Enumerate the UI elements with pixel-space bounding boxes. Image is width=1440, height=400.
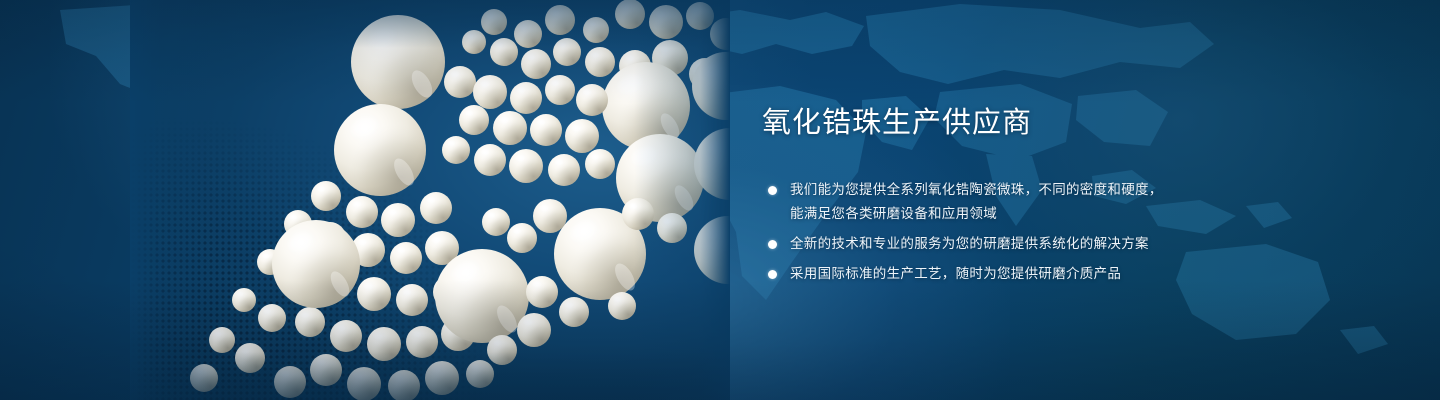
list-item-line: 采用国际标准的生产工艺，随时为您提供研磨介质产品: [790, 262, 1362, 286]
list-item-line: 全新的技术和专业的服务为您的研磨提供系统化的解决方案: [790, 232, 1362, 256]
zirconia-beads-photo: [130, 0, 730, 400]
list-item: 全新的技术和专业的服务为您的研磨提供系统化的解决方案: [762, 232, 1362, 256]
bullet-dot-icon: [768, 240, 777, 249]
bullet-dot-icon: [768, 270, 777, 279]
list-item: 采用国际标准的生产工艺，随时为您提供研磨介质产品: [762, 262, 1362, 286]
hero-banner: 氧化锆珠生产供应商 我们能为您提供全系列氧化锆陶瓷微珠，不同的密度和硬度， 能满…: [0, 0, 1440, 400]
bead-cluster: [130, 0, 730, 400]
list-item-line: 能满足您各类研磨设备和应用领域: [790, 202, 1362, 226]
feature-list: 我们能为您提供全系列氧化锆陶瓷微珠，不同的密度和硬度， 能满足您各类研磨设备和应…: [762, 178, 1362, 286]
list-item: 我们能为您提供全系列氧化锆陶瓷微珠，不同的密度和硬度， 能满足您各类研磨设备和应…: [762, 178, 1362, 226]
list-item-line: 我们能为您提供全系列氧化锆陶瓷微珠，不同的密度和硬度，: [790, 178, 1362, 202]
bullet-dot-icon: [768, 186, 777, 195]
banner-copy: 氧化锆珠生产供应商 我们能为您提供全系列氧化锆陶瓷微珠，不同的密度和硬度， 能满…: [762, 104, 1362, 286]
page-title: 氧化锆珠生产供应商: [762, 104, 1362, 142]
